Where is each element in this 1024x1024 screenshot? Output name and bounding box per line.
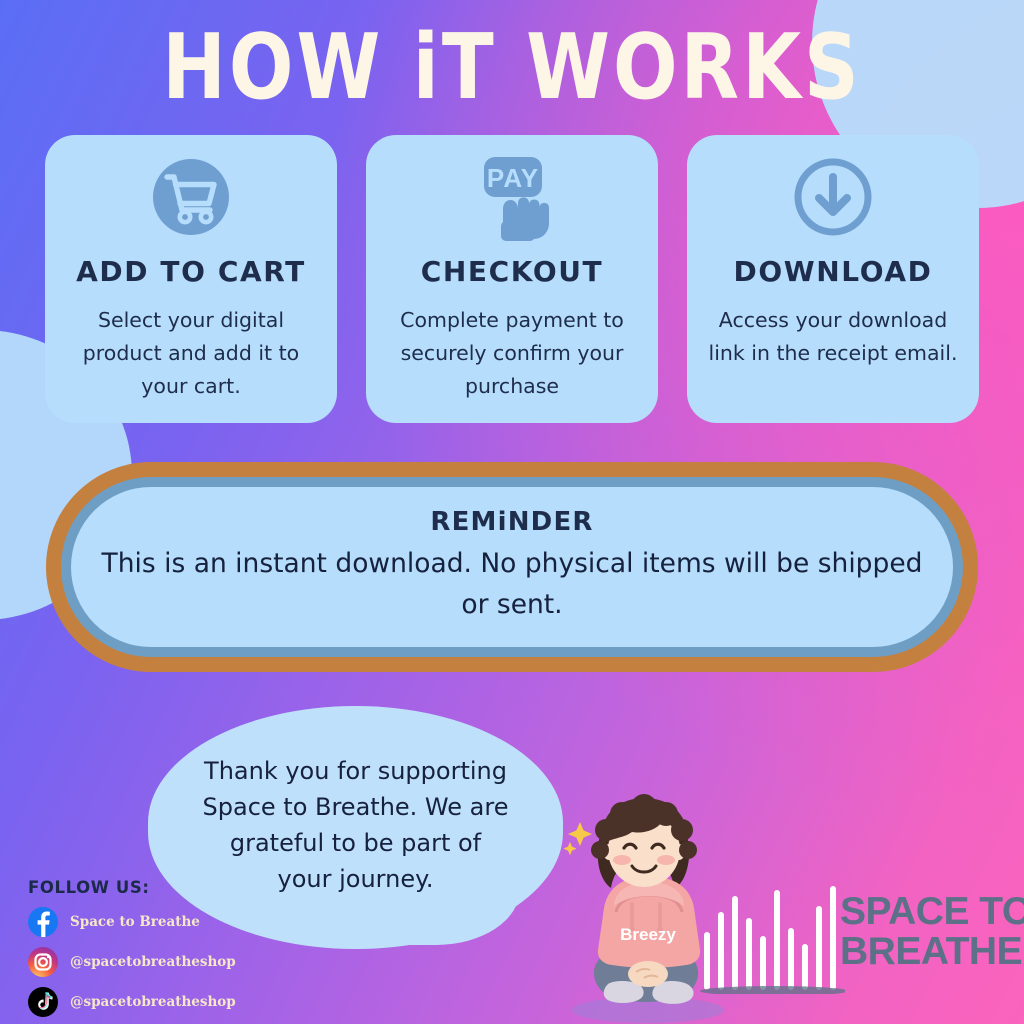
svg-text:PAY: PAY (487, 163, 539, 193)
social-handle[interactable]: Space to Breathe (70, 914, 200, 930)
brand-line-1: SPACE TO (840, 892, 1024, 932)
poster-canvas: HOW iT WORKS ADD TO CART Select your dig… (0, 0, 1024, 1024)
follow-us-label: FOLLOW US: (28, 878, 268, 897)
pay-button-hand-icon: PAY (462, 153, 562, 241)
step-card-download: DOWNLOAD Access your download link in th… (687, 135, 979, 423)
facebook-icon[interactable] (28, 907, 58, 937)
step-title: DOWNLOAD (734, 255, 933, 288)
social-handle[interactable]: @spacetobreatheshop (70, 994, 236, 1010)
thank-you-text: Thank you for supporting Space to Breath… (201, 753, 511, 897)
social-handle[interactable]: @spacetobreatheshop (70, 954, 236, 970)
hoodie-label: Breezy (620, 925, 676, 944)
step-description: Access your download link in the receipt… (705, 304, 961, 370)
instagram-icon[interactable] (28, 947, 58, 977)
step-description: Complete payment to securely confirm you… (384, 304, 640, 403)
step-description: Select your digital product and add it t… (63, 304, 319, 403)
shopping-cart-icon (147, 153, 235, 241)
page-title: HOW iT WORKS (0, 18, 1024, 117)
step-title: CHECKOUT (421, 255, 604, 288)
step-title: ADD TO CART (76, 255, 306, 288)
reminder-banner: REMiNDER This is an instant download. No… (46, 462, 978, 672)
reminder-title: REMiNDER (430, 507, 593, 537)
download-arrow-icon (789, 153, 877, 241)
brand-line-2: BREATHE. (840, 932, 1024, 972)
brand-wordmark: SPACE TO BREATHE. (840, 892, 1024, 972)
steps-row: ADD TO CART Select your digital product … (45, 135, 979, 423)
step-card-add-to-cart: ADD TO CART Select your digital product … (45, 135, 337, 423)
tiktok-icon[interactable] (28, 987, 58, 1017)
social-row-instagram[interactable]: @spacetobreatheshop (28, 947, 268, 977)
social-row-facebook[interactable]: Space to Breathe (28, 907, 268, 937)
reminder-banner-inner: REMiNDER This is an instant download. No… (71, 487, 953, 647)
reminder-text: This is an instant download. No physical… (97, 543, 927, 625)
reminder-banner-middle-ring: REMiNDER This is an instant download. No… (61, 477, 963, 657)
follow-us-section: FOLLOW US: Space to Breathe @spacetobrea… (28, 878, 268, 1017)
brand-logo: SPACE TO BREATHE. (700, 884, 1010, 1002)
step-card-checkout: PAY CHECKOUT Complete payment to securel… (366, 135, 658, 423)
equalizer-bars-icon (700, 884, 845, 994)
social-row-tiktok[interactable]: @spacetobreatheshop (28, 987, 268, 1017)
